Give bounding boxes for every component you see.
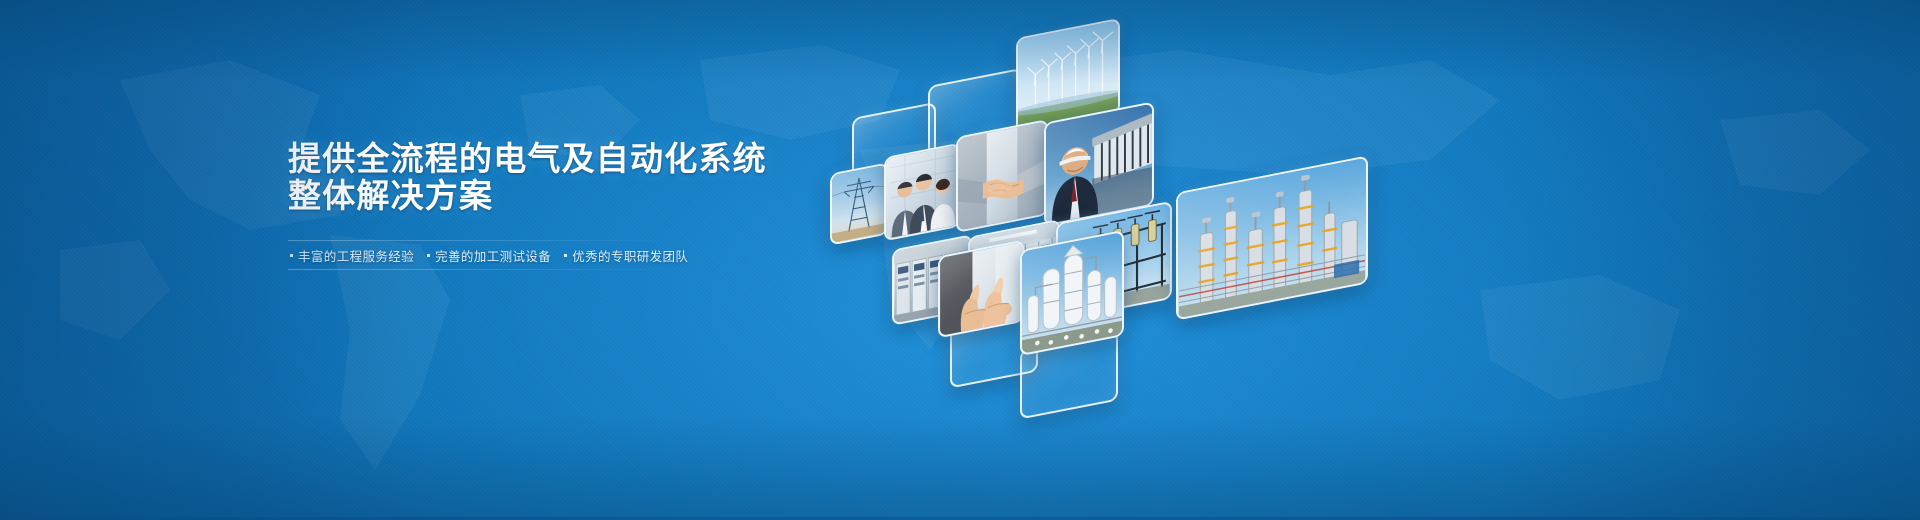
hero-banner: empty-frame empty-frame bbox=[0, 0, 1920, 520]
feature-label: 丰富的工程服务经验 bbox=[298, 246, 414, 265]
feature-label: 完善的加工测试设备 bbox=[435, 246, 551, 265]
hero-copy: 提供全流程的电气及自动化系统 整体解决方案 bbox=[288, 140, 928, 214]
feature-item-3: 优秀的专职研发团队 bbox=[564, 246, 688, 265]
collage-tile-petrochemical-refinery[interactable]: petrochemical-refinery bbox=[1176, 155, 1368, 320]
feature-item-2: 完善的加工测试设备 bbox=[427, 246, 551, 265]
feature-row: 丰富的工程服务经验 完善的加工测试设备 优秀的专职研发团队 bbox=[288, 241, 668, 269]
bullet-dot-icon bbox=[564, 254, 567, 257]
feature-divider-bottom bbox=[288, 269, 668, 270]
headline-line-2: 整体解决方案 bbox=[288, 177, 928, 214]
bullet-dot-icon bbox=[427, 254, 430, 257]
feature-label: 优秀的专职研发团队 bbox=[572, 246, 688, 265]
bullet-dot-icon bbox=[290, 254, 293, 257]
headline-line-1: 提供全流程的电气及自动化系统 bbox=[288, 140, 767, 177]
collage-tile-thumbs-up-hands[interactable]: thumbs-up-hands bbox=[938, 240, 1024, 339]
feature-item-1: 丰富的工程服务经验 bbox=[290, 246, 414, 265]
photo-collage: empty-frame empty-frame bbox=[820, 0, 1380, 520]
collage-tile-industrial-gas-plant[interactable]: industrial-gas-plant bbox=[1020, 230, 1124, 356]
collage-tile-business-handshake[interactable]: business-handshake bbox=[956, 119, 1048, 233]
feature-list: 丰富的工程服务经验 完善的加工测试设备 优秀的专职研发团队 bbox=[288, 240, 668, 270]
page-title: 提供全流程的电气及自动化系统 整体解决方案 bbox=[288, 140, 928, 214]
